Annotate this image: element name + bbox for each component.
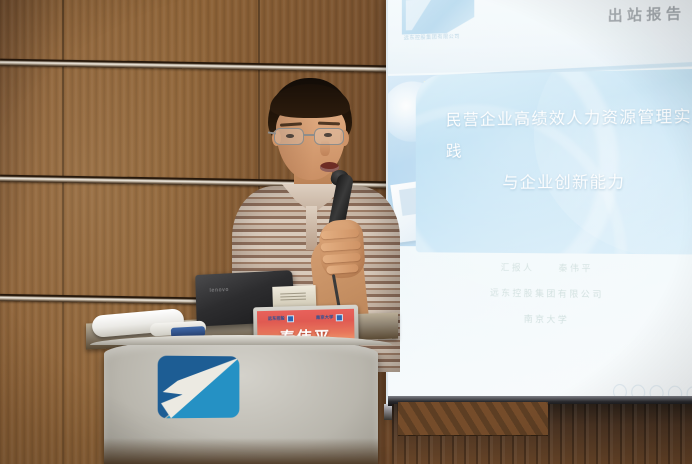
podium-front-panel: [104, 338, 378, 464]
nameplate-badge-right-icon: [336, 314, 343, 321]
nameplate-badge-right-text: 南京大学: [316, 314, 334, 320]
slide-title-line-1: 民营企业高绩效人力资源管理实践: [446, 107, 692, 161]
credits-university: 南京大学: [388, 310, 692, 329]
credits-organization: 远东控股集团有限公司: [388, 285, 692, 302]
diagonal-wood-panel: [398, 402, 548, 436]
glasses-icon: [274, 128, 350, 146]
slide-credits: 汇报人 秦伟平 远东控股集团有限公司 南京大学: [388, 260, 692, 342]
credits-presenter-name: 秦伟平: [559, 264, 593, 275]
shirt-placket: [306, 206, 317, 250]
photo-scene: 远东控股集团有限公司 出站报告 民营企业高绩效人力资: [0, 0, 692, 464]
credits-presenter-label: 汇报人: [501, 263, 535, 274]
company-logo-caption: 远东控股集团有限公司: [404, 33, 460, 42]
projected-slide: 远东控股集团有限公司 出站报告 民营企业高绩效人力资: [388, 0, 692, 428]
company-logo-icon: 远东控股集团有限公司: [402, 0, 476, 45]
wall-seam: [62, 0, 64, 464]
slide-title: 民营企业高绩效人力资源管理实践 与企业创新能力: [446, 100, 692, 199]
projection-screen: 远东控股集团有限公司 出站报告 民营企业高绩效人力资: [386, 0, 692, 430]
nameplate-badge-right: 南京大学: [316, 314, 343, 322]
slide-header-title: 出站报告: [608, 3, 686, 26]
nose: [320, 140, 330, 156]
slide-body: 民营企业高绩效人力资源管理实践 与企业创新能力 汇报人 秦伟平 远东控股集团有限…: [388, 66, 692, 428]
nameplate-badge-left-icon: [287, 315, 294, 322]
slide-header-band: 远东控股集团有限公司 出站报告: [388, 0, 692, 74]
credits-presenter-row: 汇报人 秦伟平: [388, 260, 692, 276]
nameplate-badge-left: 远东控股: [268, 315, 294, 323]
far-east-holding-group-logo: [158, 356, 240, 419]
nameplate-badge-left-text: 远东控股: [268, 315, 285, 321]
slide-title-line-2: 与企业创新能力: [446, 166, 692, 199]
laptop-brand-label: lenovo: [210, 287, 230, 294]
right-hand: [318, 219, 366, 280]
